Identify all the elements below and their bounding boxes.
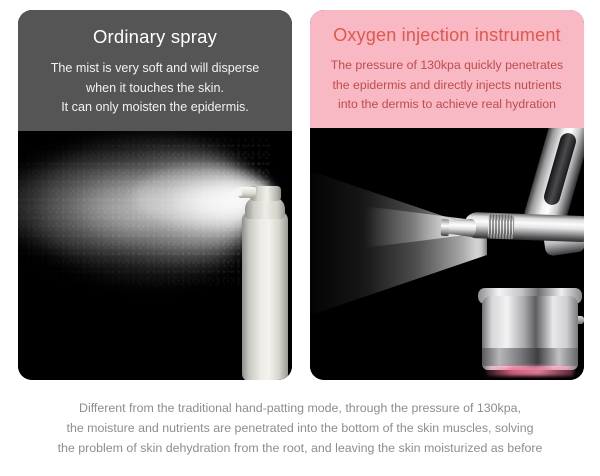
- panel-oxygen-injection-instrument: Oxygen injection instrument The pressure…: [310, 10, 584, 380]
- airbrush-pink-accent: [486, 366, 574, 376]
- panel-right-description-line-1: The pressure of 130kpa quickly penetrate…: [316, 56, 578, 76]
- panel-left-description-line-3: It can only moisten the epidermis.: [26, 98, 284, 118]
- panel-ordinary-spray: Ordinary spray The mist is very soft and…: [18, 10, 292, 380]
- oxygen-injection-photo: [310, 128, 584, 380]
- summary-caption-line-2: the moisture and nutrients are penetrate…: [14, 418, 586, 438]
- mist-droplet-grain: [18, 137, 270, 287]
- summary-caption-line-3: the problem of skin dehydration from the…: [14, 438, 586, 458]
- summary-caption-line-1: Different from the traditional hand-patt…: [14, 398, 586, 418]
- ordinary-spray-photo: [18, 131, 292, 380]
- spray-bottle-body: [242, 211, 288, 380]
- airbrush-knurled-grip: [488, 215, 515, 240]
- panel-right-description: The pressure of 130kpa quickly penetrate…: [310, 56, 584, 115]
- summary-caption: Different from the traditional hand-patt…: [0, 398, 600, 458]
- panel-right-description-line-3: into the dermis to achieve real hydratio…: [316, 95, 578, 115]
- panel-right-title: Oxygen injection instrument: [310, 22, 584, 48]
- product-comparison-infographic: Ordinary spray The mist is very soft and…: [0, 0, 600, 476]
- airbrush-cup-band: [482, 348, 578, 366]
- panel-left-title: Ordinary spray: [18, 24, 292, 50]
- airbrush-nozzle-tip: [441, 219, 450, 236]
- panel-left-description-line-2: when it touches the skin.: [26, 79, 284, 99]
- panel-right-header: Oxygen injection instrument The pressure…: [310, 10, 584, 128]
- spray-bottle-nozzle-tip: [234, 189, 242, 196]
- panel-left-header: Ordinary spray The mist is very soft and…: [18, 10, 292, 131]
- panel-right-description-line-2: the epidermis and directly injects nutri…: [316, 76, 578, 96]
- airbrush-barrel: [464, 212, 584, 242]
- panel-left-description-line-1: The mist is very soft and will disperse: [26, 59, 284, 79]
- panel-left-description: The mist is very soft and will disperse …: [18, 59, 292, 118]
